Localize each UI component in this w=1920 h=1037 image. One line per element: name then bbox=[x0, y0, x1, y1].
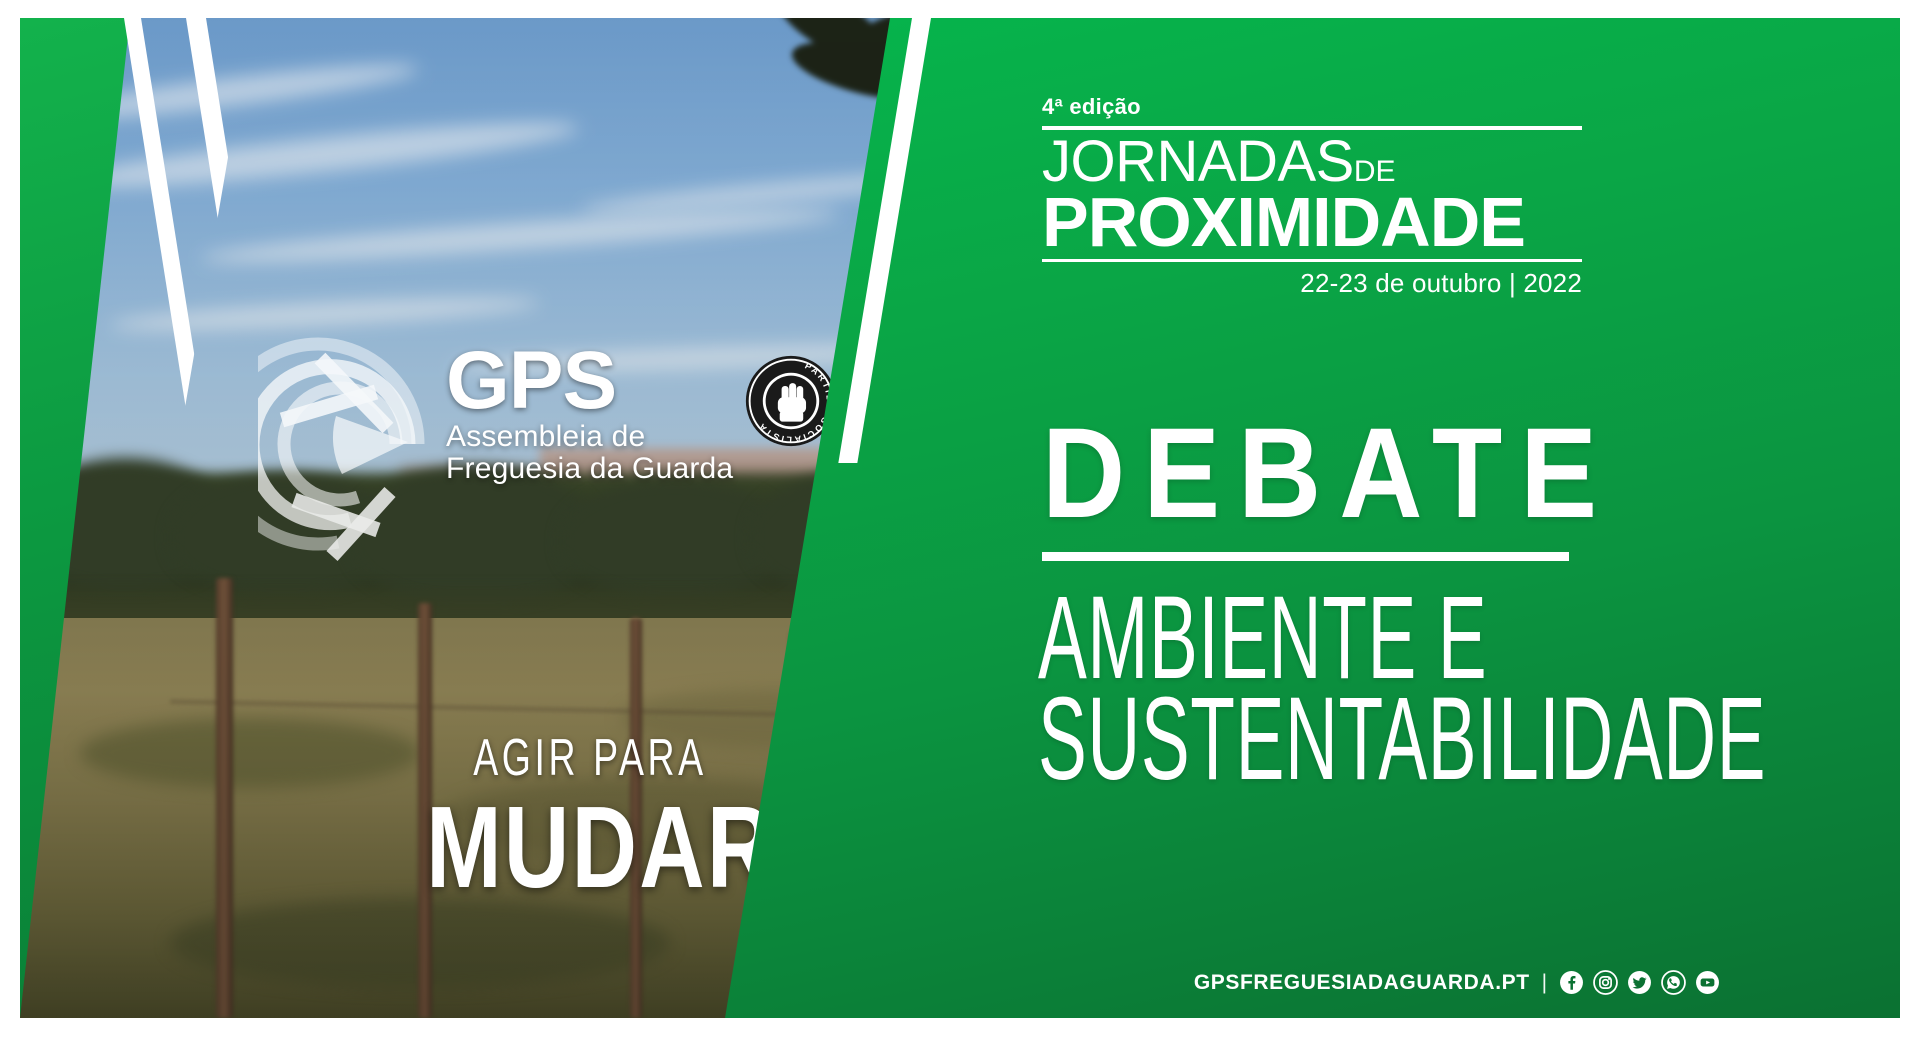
twitter-icon[interactable] bbox=[1627, 970, 1652, 995]
footer-bar: GPSFREGUESIADAGUARDA.PT | bbox=[1042, 970, 1872, 995]
gps-logo: GPS Assembleia de Freguesia da Guarda bbox=[258, 318, 858, 568]
event-banner: GPS Assembleia de Freguesia da Guarda bbox=[0, 0, 1920, 1037]
website-url[interactable]: GPSFREGUESIADAGUARDA.PT bbox=[1194, 971, 1530, 995]
series-title-line1: JORNADASDE bbox=[1042, 134, 1582, 190]
topic-line2: SUSTENTABILIDADE bbox=[1038, 689, 1571, 790]
session-format-block: DEBATE bbox=[1042, 410, 1582, 561]
gps-acronym: GPS bbox=[446, 346, 733, 417]
debate-rule bbox=[1042, 552, 1569, 561]
gps-sub-line1: Assembleia de bbox=[446, 421, 733, 453]
session-topic: AMBIENTE E SUSTENTABILIDADE bbox=[1038, 588, 1898, 791]
facebook-icon[interactable] bbox=[1559, 970, 1584, 995]
gps-wordmark: GPS Assembleia de Freguesia da Guarda bbox=[446, 346, 733, 485]
gps-sub-line2: Freguesia da Guarda bbox=[446, 453, 733, 485]
instagram-icon[interactable] bbox=[1593, 970, 1618, 995]
footer-separator: | bbox=[1542, 971, 1547, 995]
session-format: DEBATE bbox=[1042, 410, 1528, 538]
gps-radial-mark bbox=[258, 324, 468, 564]
youtube-icon[interactable] bbox=[1695, 970, 1720, 995]
banner-artboard: GPS Assembleia de Freguesia da Guarda bbox=[20, 18, 1900, 1018]
event-dates: 22-23 de outubro | 2022 bbox=[1042, 268, 1582, 299]
campaign-slogan: AGIR PARA MUDAR bbox=[380, 728, 800, 914]
event-header: 4ª edição JORNADASDE PROXIMIDADE 22-23 d… bbox=[1042, 94, 1582, 299]
edition-label: 4ª edição bbox=[1042, 94, 1582, 120]
slogan-line1: AGIR PARA bbox=[439, 728, 741, 788]
series-title-line2: PROXIMIDADE bbox=[1042, 190, 1582, 256]
slogan-line2: MUDAR bbox=[426, 780, 754, 914]
whatsapp-icon[interactable] bbox=[1661, 970, 1686, 995]
